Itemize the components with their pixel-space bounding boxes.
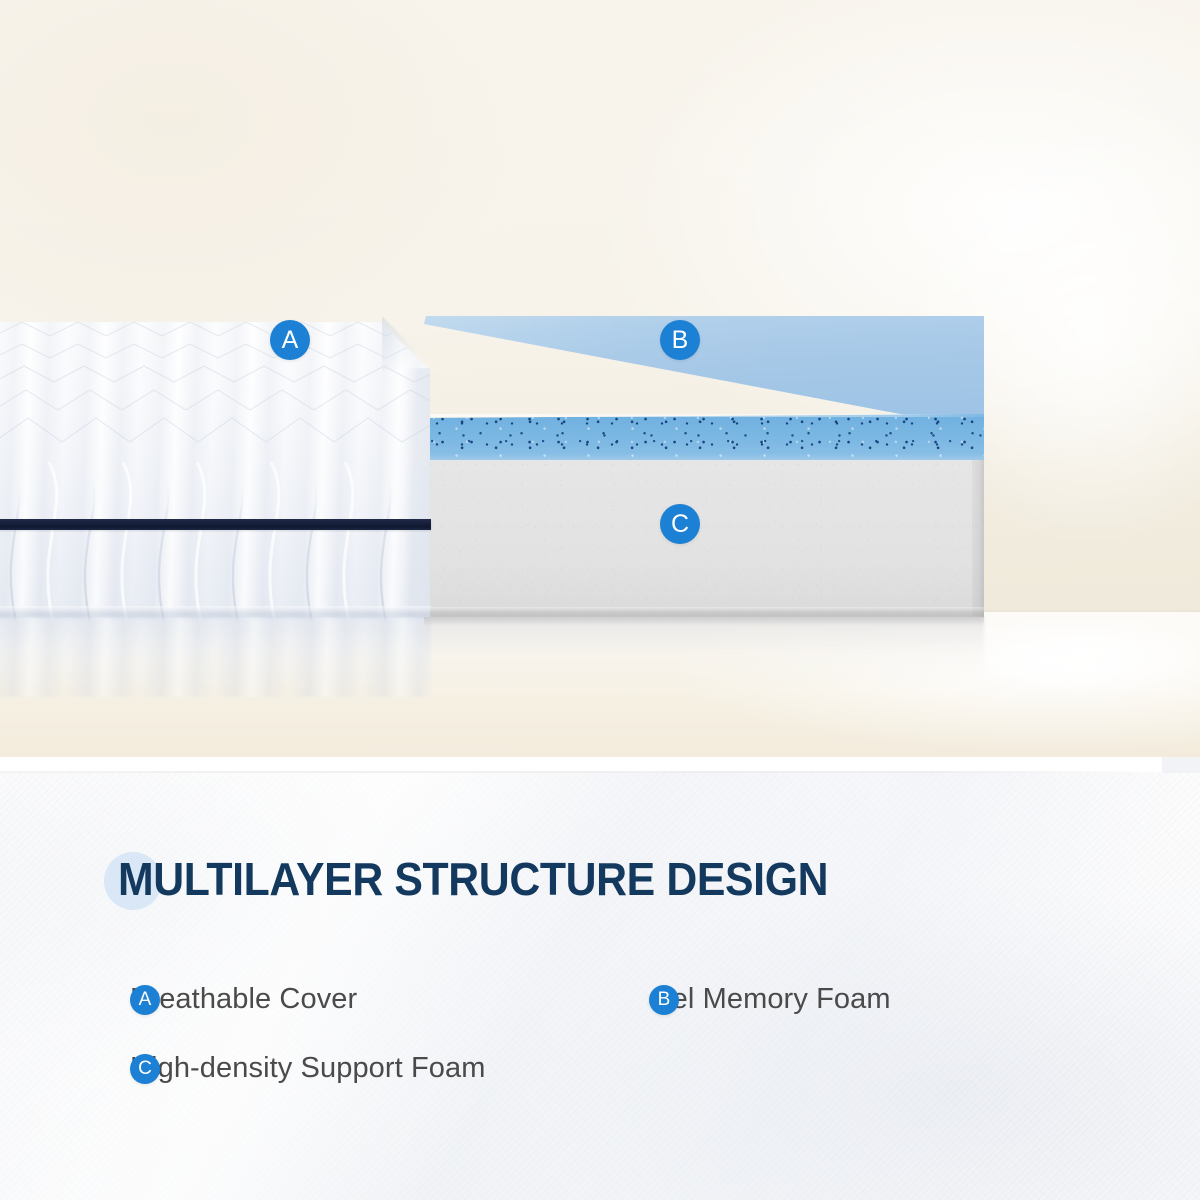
legend-badge-a: A bbox=[130, 985, 160, 1015]
page-title: MULTILAYER STRUCTURE DESIGN bbox=[118, 852, 828, 906]
info-panel bbox=[0, 757, 1200, 1200]
page-title-wrap: MULTILAYER STRUCTURE DESIGN bbox=[118, 848, 882, 910]
legend-label-a: Breathable Cover bbox=[130, 983, 357, 1016]
product-infographic: A B C MULTILAYER STRUCTURE DESIGN A Brea… bbox=[0, 0, 1200, 1200]
panel-divider bbox=[0, 771, 1162, 773]
legend-label-b: Gel Memory Foam bbox=[649, 983, 891, 1016]
legend-badge-c: C bbox=[130, 1054, 160, 1084]
cover-bottom-edge bbox=[0, 606, 431, 618]
legend-item-c[interactable]: C High-density Support Foam bbox=[130, 1052, 486, 1085]
cover-right-shading bbox=[404, 368, 430, 618]
legend-item-a[interactable]: A Breathable Cover bbox=[130, 983, 357, 1016]
callout-badge-a[interactable]: A bbox=[270, 320, 310, 360]
callout-badge-b[interactable]: B bbox=[660, 320, 700, 360]
layer-gel-memory-foam-front-face bbox=[424, 414, 984, 460]
glossy-floor bbox=[0, 612, 1200, 757]
cover-navy-piping-stripe bbox=[0, 519, 431, 530]
legend-label-c: High-density Support Foam bbox=[130, 1052, 486, 1085]
legend-badge-b: B bbox=[649, 985, 679, 1015]
callout-badge-c[interactable]: C bbox=[660, 504, 700, 544]
legend-item-b[interactable]: B Gel Memory Foam bbox=[649, 983, 891, 1016]
gel-top-highlight-edge bbox=[424, 414, 984, 417]
panel-corner-notch bbox=[1162, 757, 1200, 773]
support-foam-bottom-edge bbox=[424, 607, 984, 617]
mattress-cutaway-photo: A B C bbox=[0, 0, 1200, 757]
cover-zigzag-pattern bbox=[0, 318, 436, 468]
cover-wave-quilting bbox=[0, 462, 436, 620]
layer-breathable-cover bbox=[0, 312, 436, 620]
